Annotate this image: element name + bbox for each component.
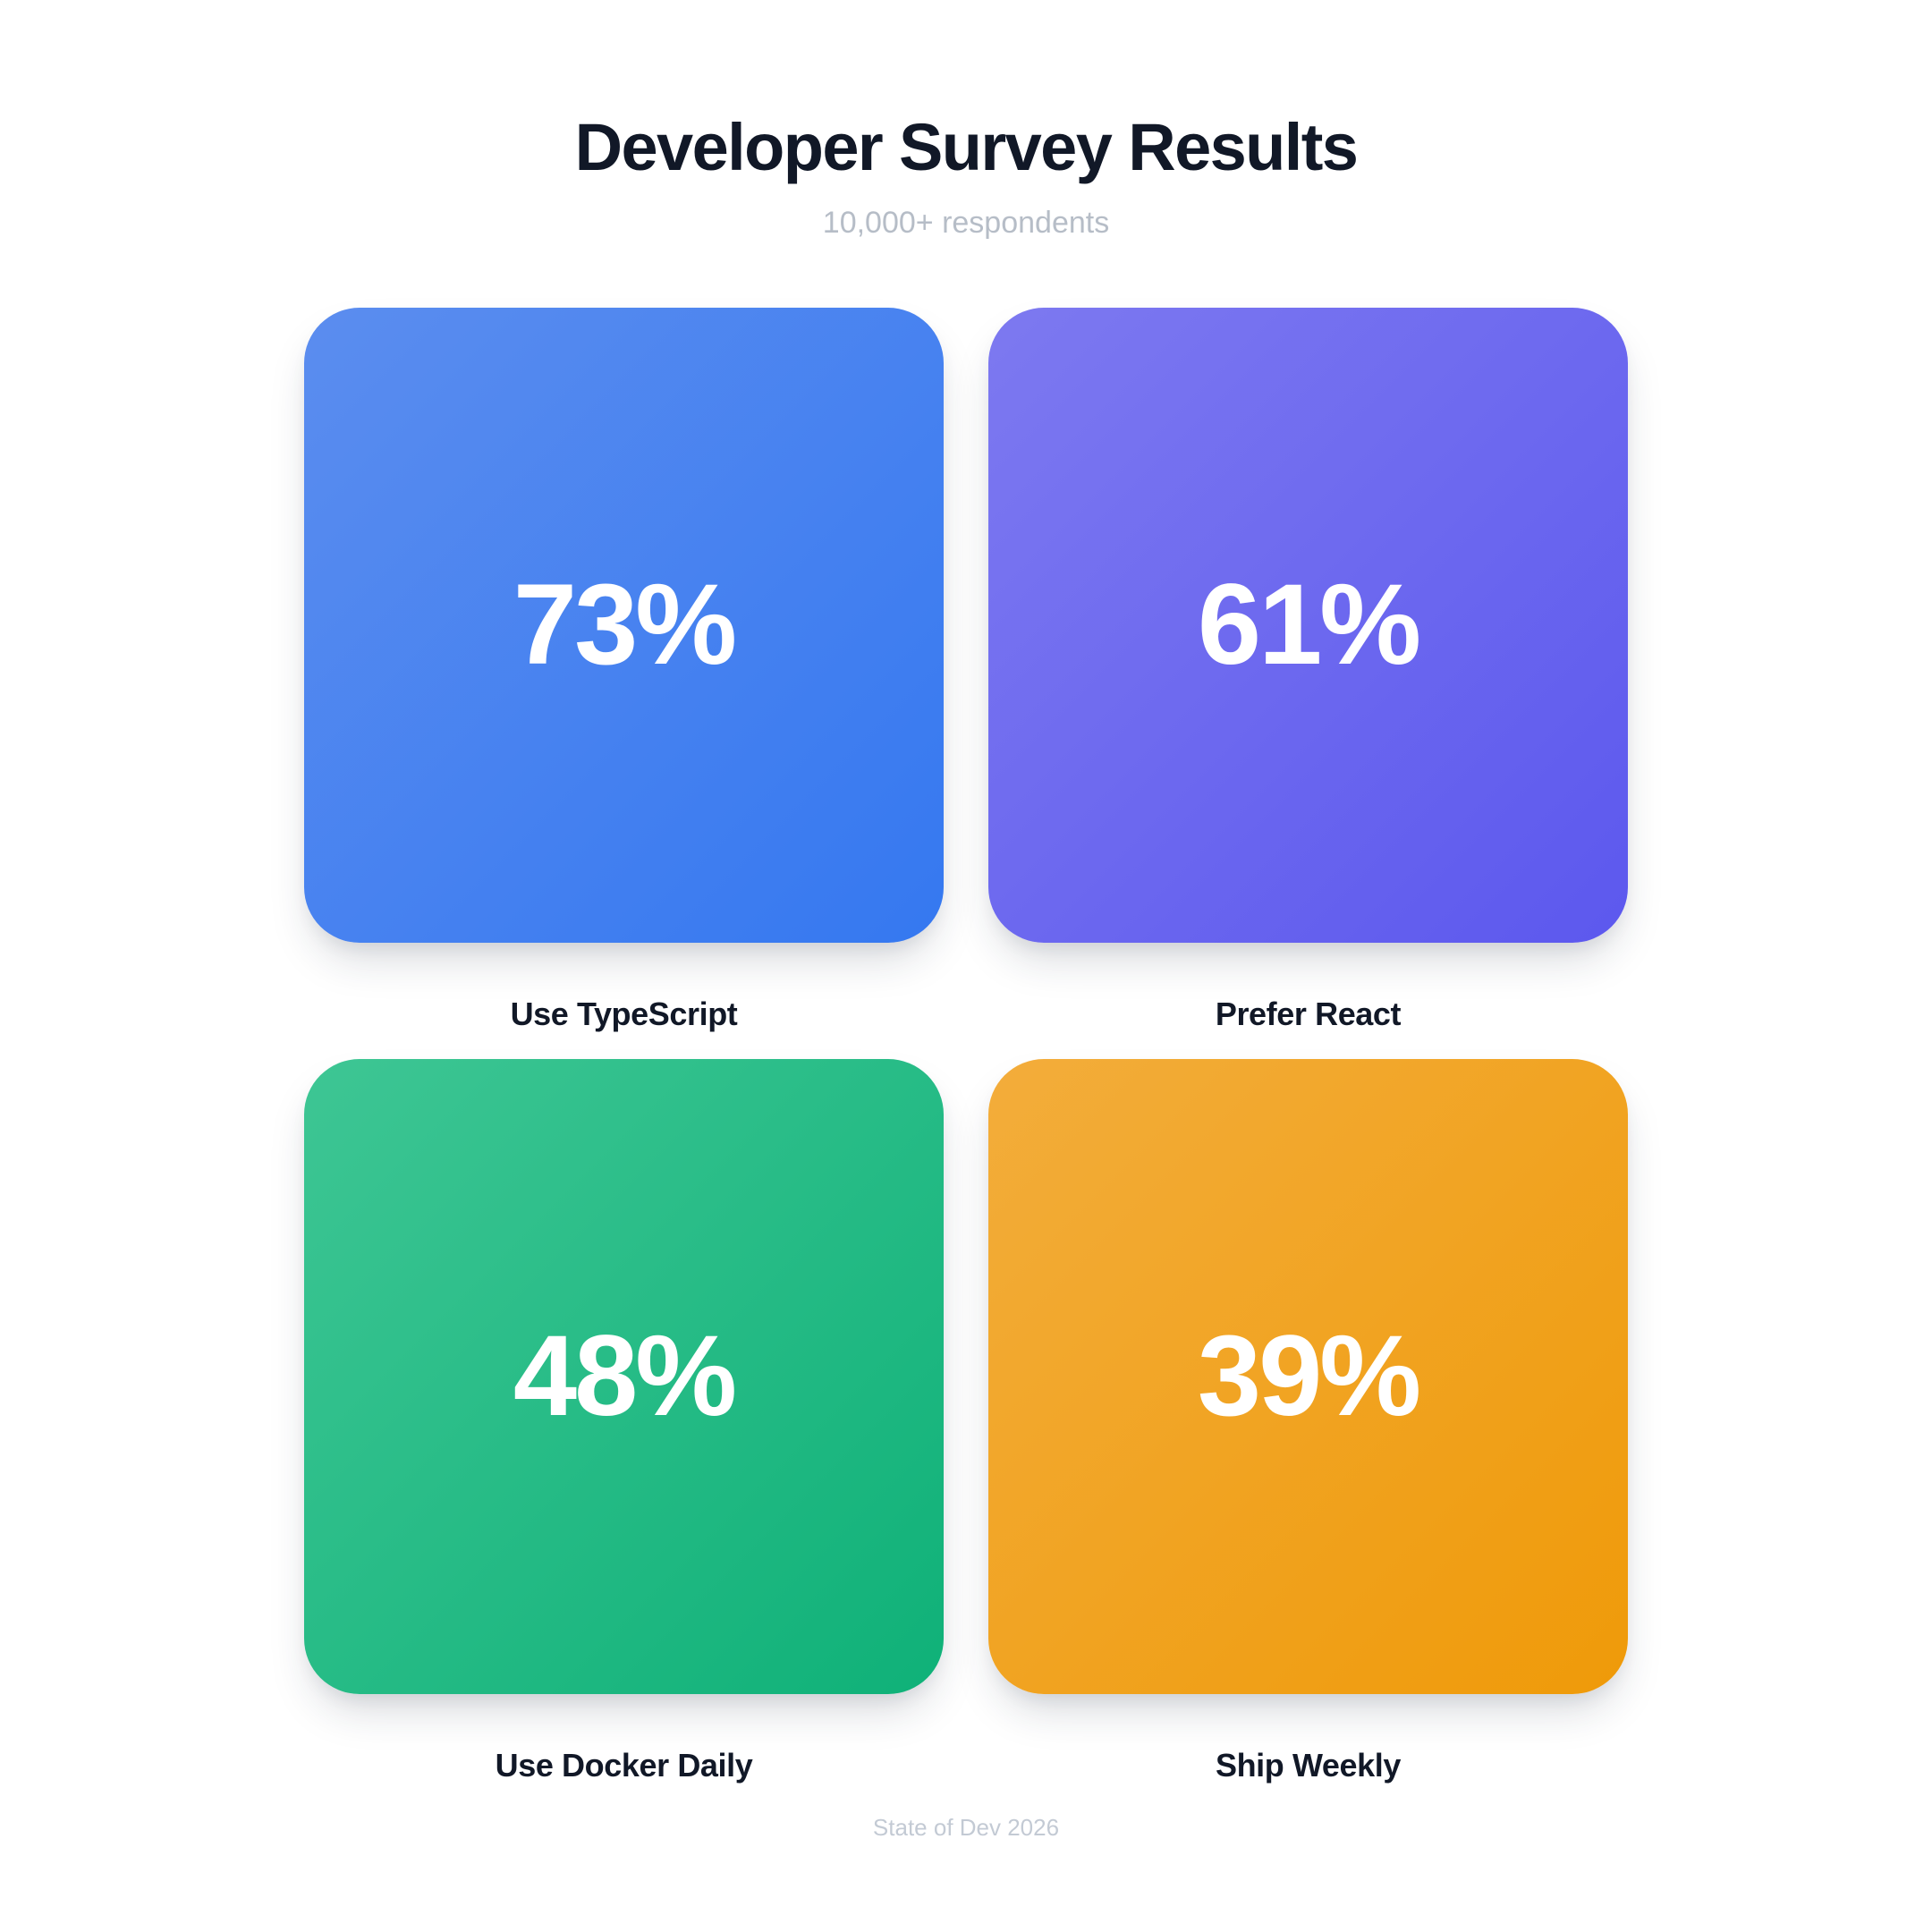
stat-card-ship-weekly[interactable]: 39% [988, 1059, 1628, 1694]
footer-caption: State of Dev 2026 [304, 1816, 1628, 1839]
stat-card-use-docker-daily[interactable]: 48% [304, 1059, 944, 1694]
stat-card-use-typescript[interactable]: 73% [304, 308, 944, 943]
stat-cell-prefer-react: 61% Prefer React [988, 308, 1628, 1030]
stat-value: 73% [513, 568, 734, 682]
stat-label: Use TypeScript [511, 998, 738, 1030]
stat-cell-use-typescript: 73% Use TypeScript [304, 308, 944, 1030]
stat-value: 61% [1198, 568, 1419, 682]
page-subtitle: 10,000+ respondents [304, 181, 1628, 238]
footer: State of Dev 2026 [304, 1816, 1628, 1839]
stat-label: Use Docker Daily [496, 1750, 753, 1782]
stat-label: Prefer React [1216, 998, 1401, 1030]
stat-label: Ship Weekly [1216, 1750, 1401, 1782]
stat-cell-use-docker-daily: 48% Use Docker Daily [304, 1059, 944, 1782]
stat-value: 39% [1198, 1319, 1419, 1434]
stat-value: 48% [513, 1319, 734, 1434]
stat-card-prefer-react[interactable]: 61% [988, 308, 1628, 943]
header: Developer Survey Results 10,000+ respond… [304, 0, 1628, 238]
page-title: Developer Survey Results [304, 114, 1628, 181]
stat-card-grid: 73% Use TypeScript 61% Prefer React 48% … [304, 308, 1628, 1782]
stat-dashboard: Developer Survey Results 10,000+ respond… [0, 0, 1932, 1932]
stat-cell-ship-weekly: 39% Ship Weekly [988, 1059, 1628, 1782]
